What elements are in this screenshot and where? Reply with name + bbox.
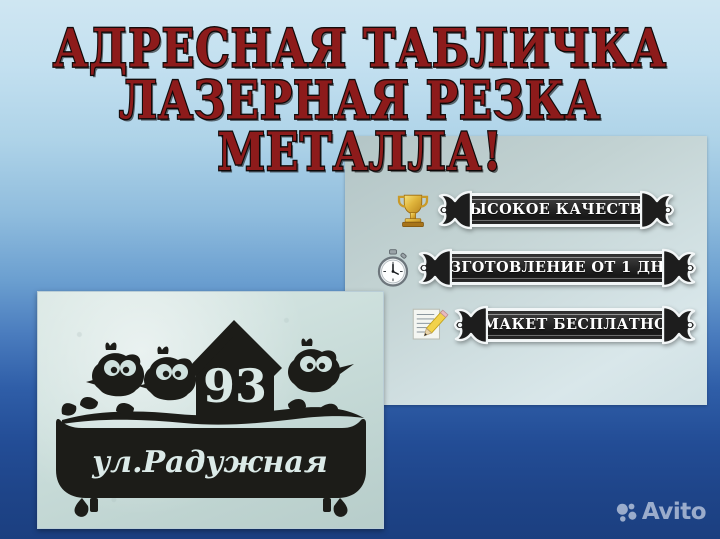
ribbon-finial-left-icon [454, 303, 488, 347]
stopwatch-icon [372, 247, 414, 289]
ribbon-finial-left-icon [418, 246, 452, 290]
feature-label-leadtime: ИЗГОТОВЛЕНИЕ ОТ 1 ДНЯ [436, 259, 677, 276]
headline-block: АДРЕСНАЯ ТАБЛИЧКА ЛАЗЕРНАЯ РЕЗКА МЕТАЛЛА… [0, 24, 720, 170]
avito-dots-icon [615, 501, 637, 523]
avito-watermark: Avito [615, 499, 706, 525]
ribbon-finial-right-icon [640, 188, 674, 232]
headline-line-1: АДРЕСНАЯ ТАБЛИЧКА [0, 24, 720, 75]
feature-ribbon-quality: ВЫСОКОЕ КАЧЕСТВО [438, 188, 674, 232]
advertisement-image: АДРЕСНАЯ ТАБЛИЧКА ЛАЗЕРНАЯ РЕЗКА МЕТАЛЛА… [0, 0, 720, 539]
plate-street-name: ул.Радужная [91, 445, 328, 480]
feature-ribbon-leadtime: ИЗГОТОВЛЕНИЕ ОТ 1 ДНЯ [418, 246, 696, 290]
feature-label-freelayout: МАКЕТ БЕСПЛАТНО [483, 316, 667, 333]
ribbon-finial-right-icon [662, 246, 696, 290]
plate-house-number: 93 [203, 359, 267, 413]
feature-ribbon-freelayout: МАКЕТ БЕСПЛАТНО [454, 303, 696, 347]
trophy-icon [392, 189, 434, 231]
ribbon-finial-right-icon [662, 303, 696, 347]
address-plate-graphic: 93 ул.Радужная [38, 292, 383, 528]
feature-label-quality: ВЫСОКОЕ КАЧЕСТВО [457, 201, 656, 218]
product-photo: 93 ул.Радужная [37, 291, 384, 529]
avito-brand-label: Avito [642, 499, 706, 525]
feature-row-quality: ВЫСОКОЕ КАЧЕСТВО [392, 188, 674, 232]
ribbon-finial-left-icon [438, 188, 472, 232]
feature-row-leadtime: ИЗГОТОВЛЕНИЕ ОТ 1 ДНЯ [372, 246, 696, 290]
memo-pencil-icon [408, 304, 450, 346]
feature-row-freelayout: МАКЕТ БЕСПЛАТНО [408, 303, 696, 347]
headline-line-2: ЛАЗЕРНАЯ РЕЗКА МЕТАЛЛА! [0, 76, 720, 179]
